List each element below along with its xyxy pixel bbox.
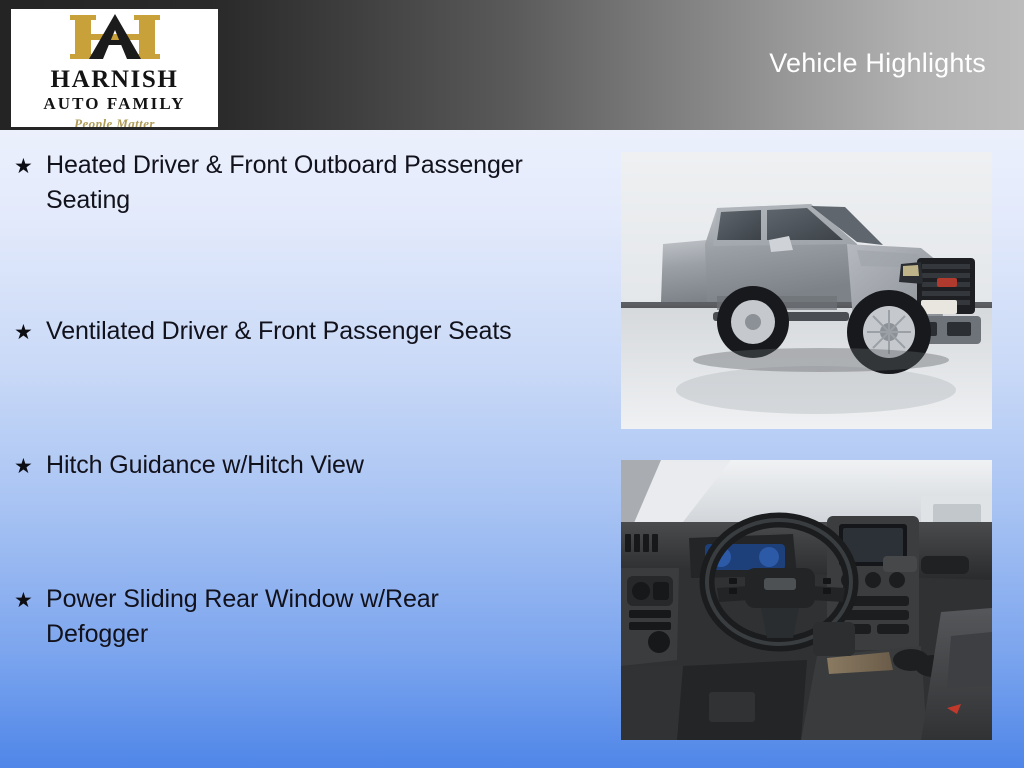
star-bullet-icon: ★ xyxy=(14,582,46,620)
exterior-photo[interactable] xyxy=(621,152,992,429)
highlight-label: Ventilated Driver & Front Passenger Seat… xyxy=(46,314,546,349)
list-item: ★ Power Sliding Rear Window w/Rear Defog… xyxy=(0,582,580,652)
star-bullet-icon: ★ xyxy=(14,148,46,186)
logo-name: HARNISH xyxy=(51,67,179,93)
list-item: ★ Hitch Guidance w/Hitch View xyxy=(0,448,580,486)
page-title: Vehicle Highlights xyxy=(769,50,986,77)
highlight-label: Heated Driver & Front Outboard Passenger… xyxy=(46,148,546,218)
dealer-logo[interactable]: HARNISH AUTO FAMILY People Matter xyxy=(11,9,218,127)
highlight-label: Power Sliding Rear Window w/Rear Defogge… xyxy=(46,582,546,652)
list-item: ★ Heated Driver & Front Outboard Passeng… xyxy=(0,148,580,218)
vehicle-highlights-list: ★ Heated Driver & Front Outboard Passeng… xyxy=(0,148,580,652)
star-bullet-icon: ★ xyxy=(14,314,46,352)
logo-tagline: People Matter xyxy=(74,116,155,127)
highlight-label: Hitch Guidance w/Hitch View xyxy=(46,448,546,483)
star-bullet-icon: ★ xyxy=(14,448,46,486)
logo-subtitle: AUTO FAMILY xyxy=(43,95,185,113)
interior-photo[interactable] xyxy=(621,460,992,740)
harnish-monogram-icon xyxy=(65,13,165,65)
list-item: ★ Ventilated Driver & Front Passenger Se… xyxy=(0,314,580,352)
